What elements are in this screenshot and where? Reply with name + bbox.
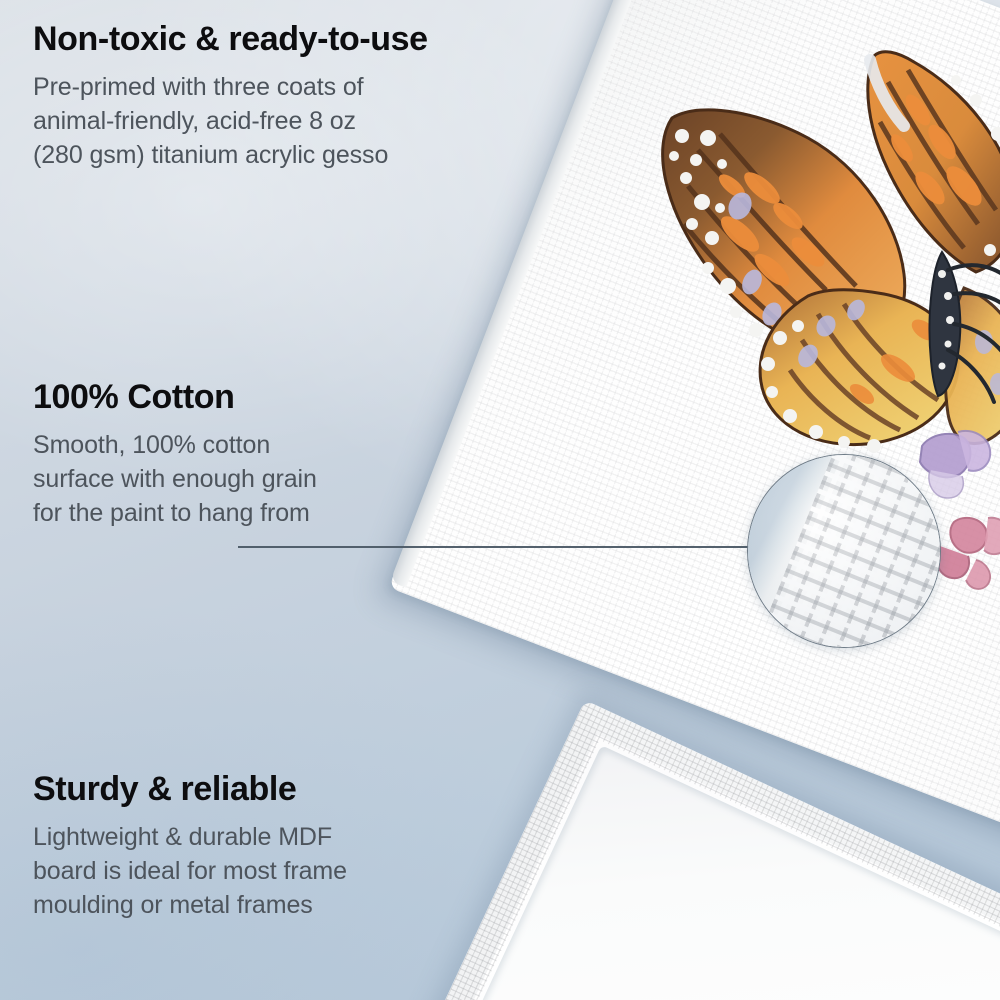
feature-heading-sturdy: Sturdy & reliable <box>33 770 463 808</box>
feature-block-sturdy: Sturdy & reliable Lightweight & durable … <box>33 770 463 922</box>
canvas-weave-closeup-magnifier <box>747 454 941 648</box>
magnifier-content <box>747 454 941 648</box>
feature-body-sturdy: Lightweight & durable MDF board is ideal… <box>33 820 463 922</box>
feature-block-non-toxic: Non-toxic & ready-to-use Pre-primed with… <box>33 20 533 172</box>
product-feature-infographic: Non-toxic & ready-to-use Pre-primed with… <box>0 0 1000 1000</box>
feature-block-cotton: 100% Cotton Smooth, 100% cotton surface … <box>33 378 433 530</box>
feature-heading-non-toxic: Non-toxic & ready-to-use <box>33 20 533 58</box>
feature-body-non-toxic: Pre-primed with three coats of animal-fr… <box>33 70 533 172</box>
feature-heading-cotton: 100% Cotton <box>33 378 433 416</box>
feature-body-cotton: Smooth, 100% cotton surface with enough … <box>33 428 433 530</box>
callout-leader-line <box>238 546 750 548</box>
magnifier-shading <box>747 454 941 648</box>
